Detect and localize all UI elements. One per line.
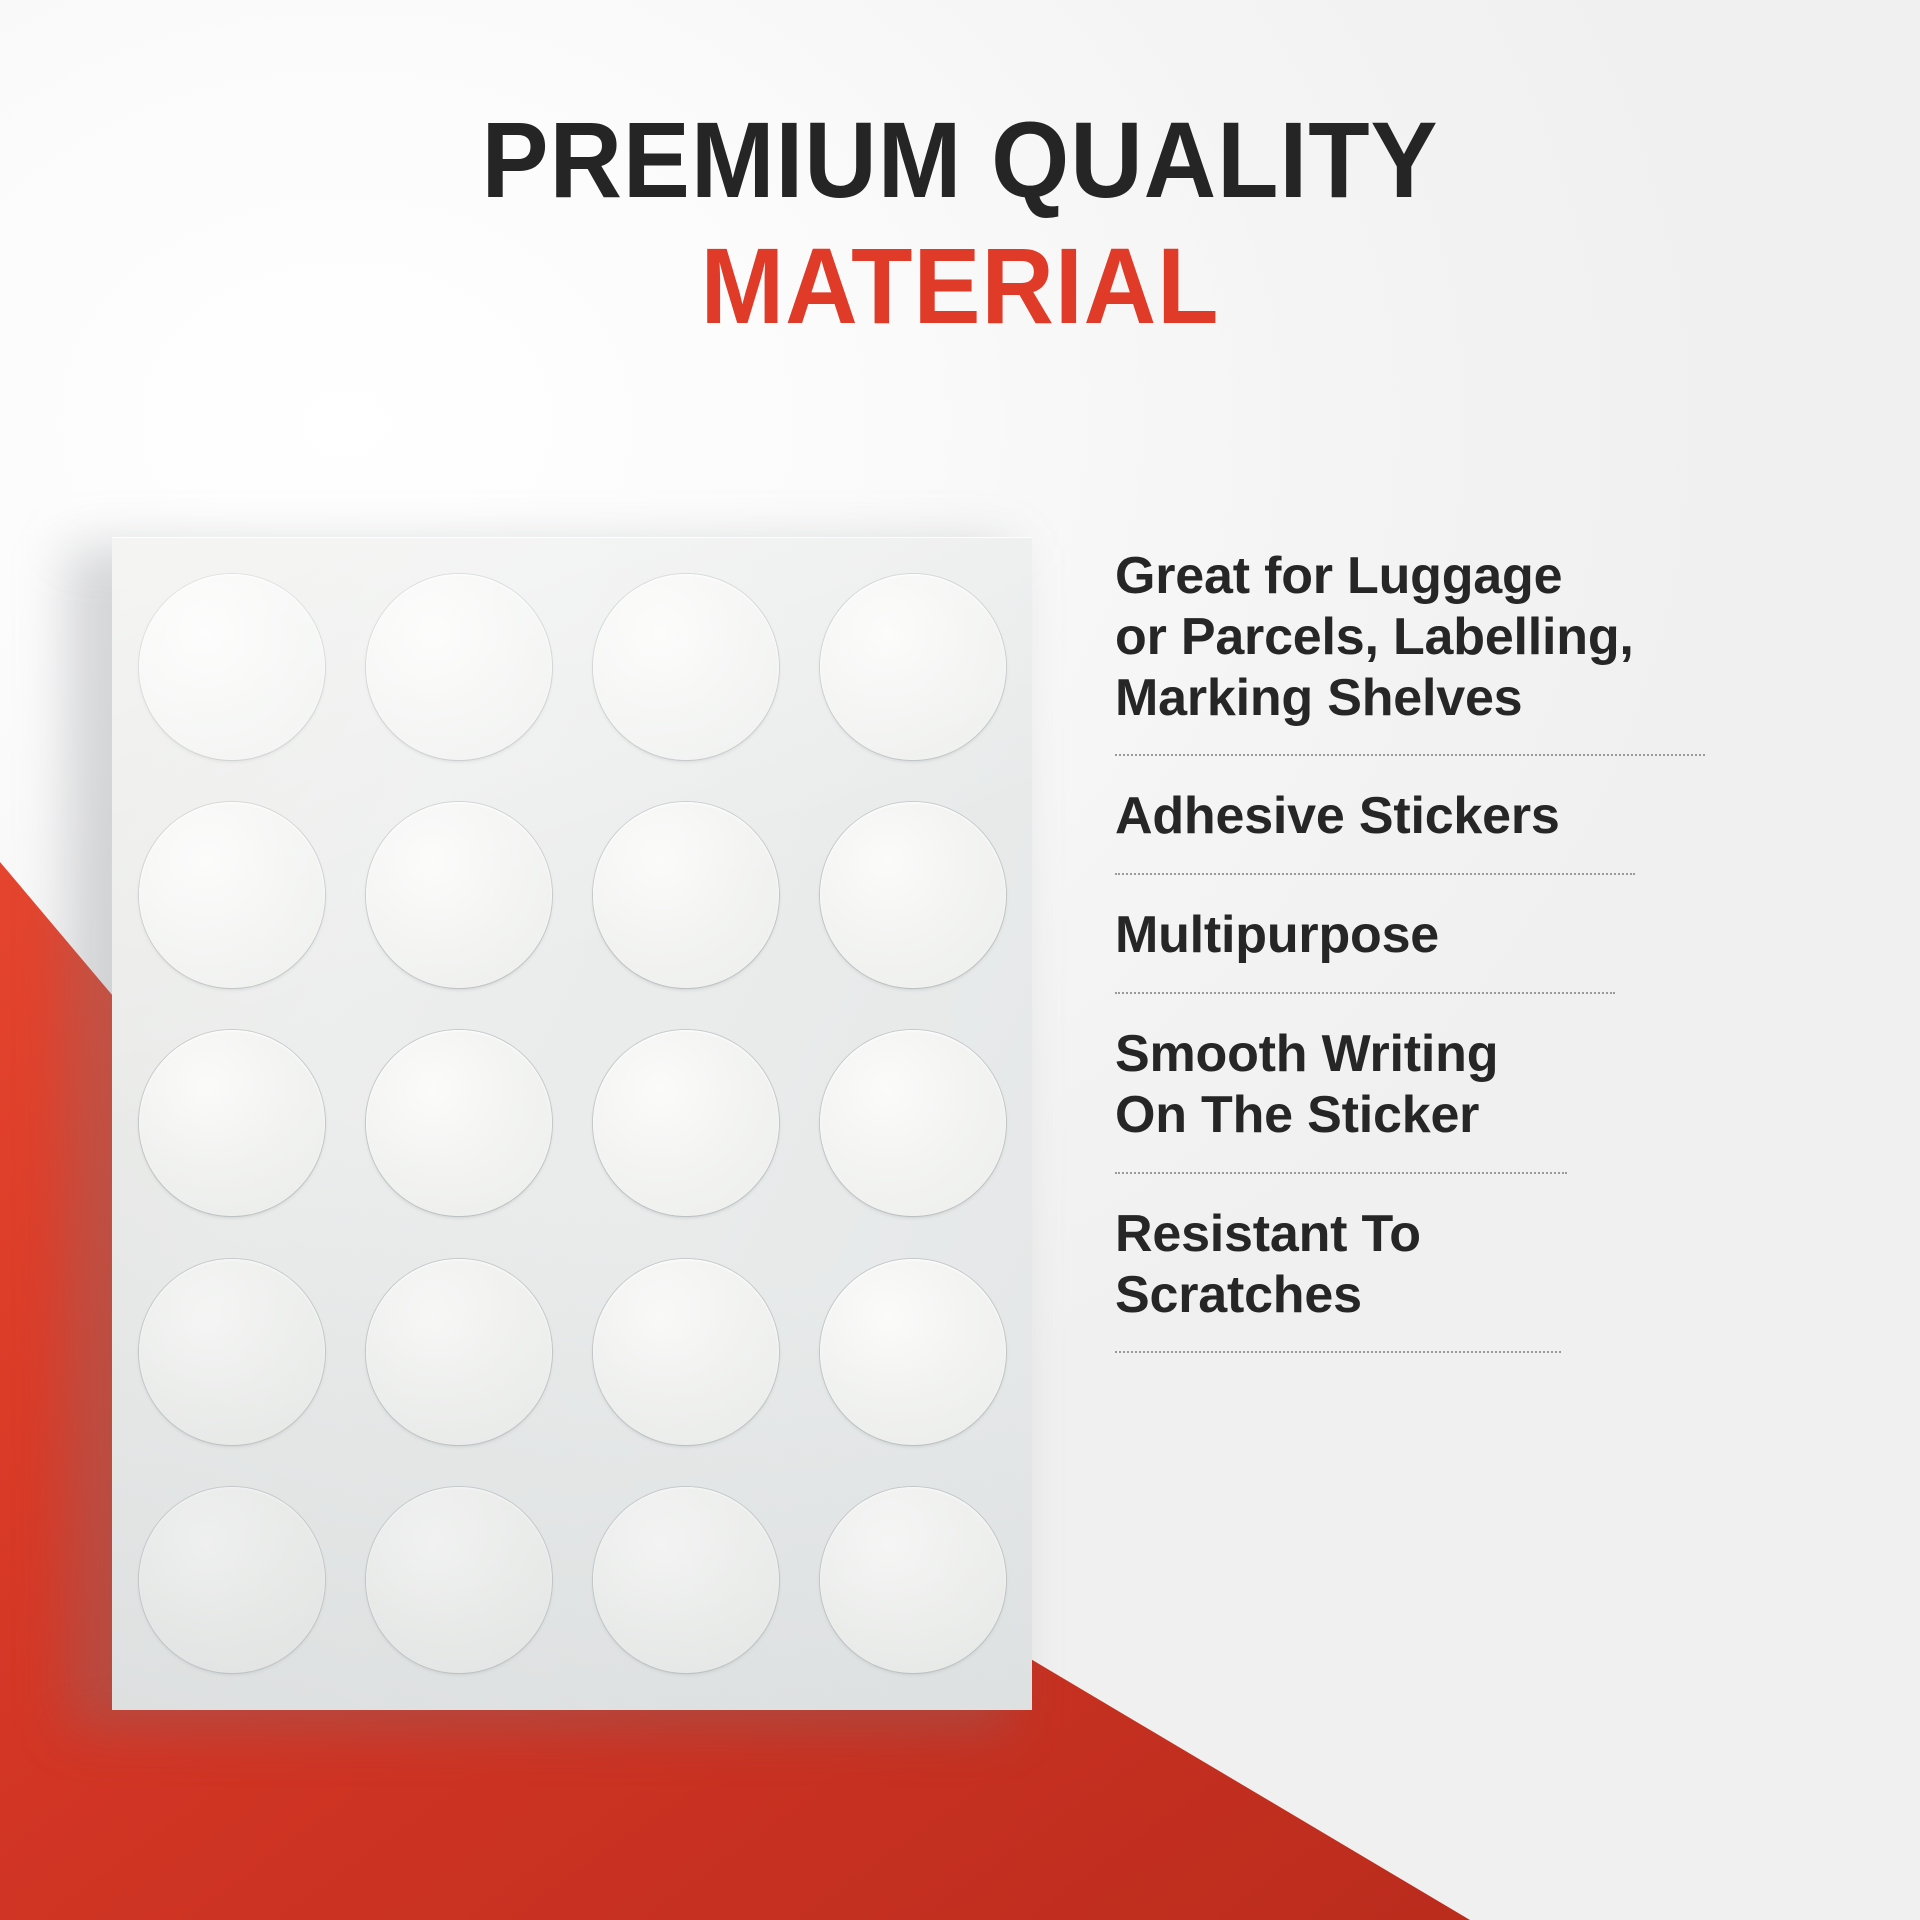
sticker-dot-cell <box>799 553 1026 781</box>
sticker-dot-cell <box>572 1466 799 1694</box>
product-image <box>112 537 1032 1710</box>
sticker-dot <box>139 574 325 760</box>
feature-item-smooth-writing: Smooth Writing On The Sticker <box>1115 1024 1785 1146</box>
sticker-dot <box>593 802 779 988</box>
sticker-dot-cell <box>118 1238 345 1466</box>
sticker-dot-cell <box>345 553 572 781</box>
product-feature-banner: PREMIUM QUALITY MATERIAL <box>0 0 1920 1920</box>
sticker-dot-cell <box>799 1009 1026 1237</box>
sticker-dot <box>820 1030 1006 1216</box>
feature-item-multipurpose: Multipurpose <box>1115 905 1785 966</box>
sticker-dot <box>139 1030 325 1216</box>
page-title: PREMIUM QUALITY MATERIAL <box>0 106 1920 340</box>
feature-divider <box>1115 992 1615 994</box>
sticker-dot <box>820 802 1006 988</box>
sticker-dot-cell <box>118 781 345 1009</box>
feature-label: Resistant To Scratches <box>1115 1204 1785 1326</box>
sticker-dot <box>593 1487 779 1673</box>
sticker-dot-cell <box>572 781 799 1009</box>
sticker-dot <box>593 574 779 760</box>
sticker-dot-cell <box>799 1238 1026 1466</box>
sticker-dot <box>593 1030 779 1216</box>
feature-divider <box>1115 873 1635 875</box>
feature-divider <box>1115 1172 1567 1174</box>
sticker-dot-cell <box>345 1466 572 1694</box>
sticker-dot <box>366 1030 552 1216</box>
sticker-dot-cell <box>118 1009 345 1237</box>
feature-list: Great for Luggage or Parcels, Labelling,… <box>1115 546 1785 1383</box>
feature-item-luggage: Great for Luggage or Parcels, Labelling,… <box>1115 546 1785 728</box>
sticker-dot-cell <box>345 1238 572 1466</box>
sticker-sheet <box>112 537 1032 1710</box>
sticker-dot-cell <box>345 781 572 1009</box>
feature-item-adhesive: Adhesive Stickers <box>1115 786 1785 847</box>
sticker-dot-cell <box>572 553 799 781</box>
sticker-dot <box>139 1259 325 1445</box>
title-primary: PREMIUM QUALITY <box>67 106 1853 214</box>
sticker-dot <box>366 802 552 988</box>
sticker-dot-cell <box>118 1466 345 1694</box>
sticker-dot <box>366 1487 552 1673</box>
title-accent: MATERIAL <box>67 232 1853 340</box>
sticker-dot <box>366 1259 552 1445</box>
sticker-dot <box>139 1487 325 1673</box>
feature-divider <box>1115 754 1705 756</box>
sticker-dot-cell <box>118 553 345 781</box>
sticker-dot-cell <box>345 1009 572 1237</box>
sticker-dot-cell <box>799 781 1026 1009</box>
feature-label: Smooth Writing On The Sticker <box>1115 1024 1785 1146</box>
feature-label: Great for Luggage or Parcels, Labelling,… <box>1115 546 1785 728</box>
sticker-dot-grid <box>112 537 1032 1710</box>
sticker-dot <box>820 1259 1006 1445</box>
sticker-dot-cell <box>572 1009 799 1237</box>
feature-label: Adhesive Stickers <box>1115 786 1785 847</box>
sticker-dot <box>820 574 1006 760</box>
feature-item-scratch-resistant: Resistant To Scratches <box>1115 1204 1785 1326</box>
sticker-dot-cell <box>572 1238 799 1466</box>
sticker-dot <box>820 1487 1006 1673</box>
sticker-dot <box>593 1259 779 1445</box>
sticker-dot <box>139 802 325 988</box>
sticker-dot <box>366 574 552 760</box>
feature-divider <box>1115 1351 1561 1353</box>
sticker-dot-cell <box>799 1466 1026 1694</box>
feature-label: Multipurpose <box>1115 905 1785 966</box>
